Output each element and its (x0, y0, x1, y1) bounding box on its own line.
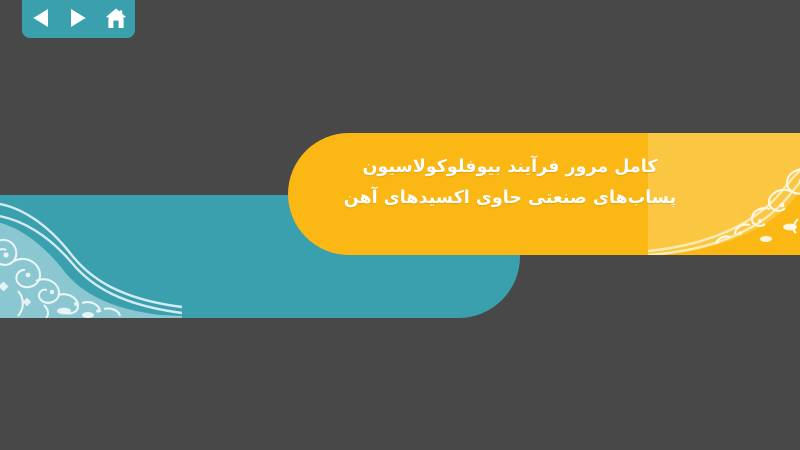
back-button[interactable] (27, 5, 55, 31)
triangle-left-icon (32, 8, 50, 28)
home-icon (105, 8, 127, 29)
slide-title: کامل مرور فرآیند بیوفلوکولاسیون پساب‌های… (300, 152, 720, 214)
slide-title-line-1: کامل مرور فرآیند بیوفلوکولاسیون (300, 152, 720, 183)
home-button[interactable] (102, 5, 130, 31)
teal-arabesque-ornament (0, 195, 182, 318)
slide-title-line-2: پساب‌های صنعتی حاوی اکسیدهای آهن (300, 183, 720, 214)
forward-button[interactable] (64, 5, 92, 31)
triangle-right-icon (69, 8, 87, 28)
navigation-toolbar (22, 0, 135, 38)
presentation-viewer: کامل مرور فرآیند بیوفلوکولاسیون پساب‌های… (0, 0, 800, 450)
